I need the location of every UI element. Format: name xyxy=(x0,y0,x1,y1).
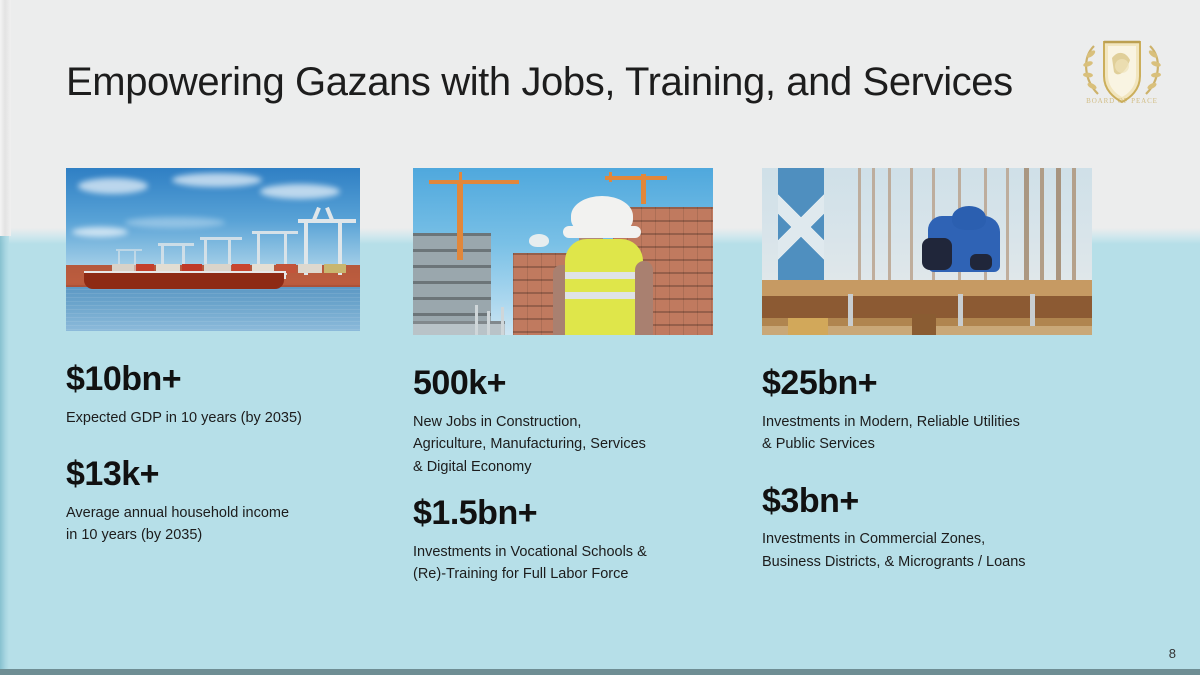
stat-block: $10bn+ Expected GDP in 10 years (by 2035… xyxy=(66,362,360,429)
stat-description-line: & Digital Economy xyxy=(413,456,713,478)
stat-value: 500k+ xyxy=(413,366,713,402)
stat-description-line: New Jobs in Construction, xyxy=(413,411,713,433)
stat-description-line: in 10 years (by 2035) xyxy=(66,524,360,546)
left-edge-highlight-top xyxy=(0,0,11,236)
board-of-peace-logo-icon xyxy=(1074,28,1170,126)
photo-construction-worker xyxy=(413,168,713,335)
stat-value: $25bn+ xyxy=(762,366,1092,402)
stat-description: Expected GDP in 10 years (by 2035) xyxy=(66,407,360,429)
stat-description-line: (Re)-Training for Full Labor Force xyxy=(413,563,713,585)
stat-block: 500k+ New Jobs in Construction, Agricult… xyxy=(413,366,713,478)
stat-block: $25bn+ Investments in Modern, Reliable U… xyxy=(762,366,1092,456)
stat-description-line: Business Districts, & Microgrants / Loan… xyxy=(762,551,1092,573)
page-title: Empowering Gazans with Jobs, Training, a… xyxy=(66,60,1066,105)
stat-description-line: & Public Services xyxy=(762,433,1092,455)
stat-value: $13k+ xyxy=(66,457,360,493)
stat-value: $1.5bn+ xyxy=(413,496,713,532)
stat-description-line: Expected GDP in 10 years (by 2035) xyxy=(66,407,360,429)
page-number: 8 xyxy=(1169,646,1176,661)
stat-description-line: Investments in Vocational Schools & xyxy=(413,541,713,563)
stat-description: Investments in Commercial Zones, Busines… xyxy=(762,528,1092,573)
stat-column-3: $25bn+ Investments in Modern, Reliable U… xyxy=(762,168,1092,573)
stat-description: Investments in Modern, Reliable Utilitie… xyxy=(762,411,1092,456)
stat-description: Investments in Vocational Schools & (Re)… xyxy=(413,541,713,586)
stat-block: $1.5bn+ Investments in Vocational School… xyxy=(413,496,713,586)
slide-canvas: Empowering Gazans with Jobs, Training, a… xyxy=(0,0,1200,675)
photo-formwork-worker xyxy=(762,168,1092,335)
stat-block: $3bn+ Investments in Commercial Zones, B… xyxy=(762,484,1092,574)
stat-value: $10bn+ xyxy=(66,362,360,398)
slide-bottom-bar xyxy=(0,669,1200,675)
stat-description-line: Investments in Modern, Reliable Utilitie… xyxy=(762,411,1092,433)
stat-description-line: Investments in Commercial Zones, xyxy=(762,528,1092,550)
stat-column-2: 500k+ New Jobs in Construction, Agricult… xyxy=(413,168,713,586)
stat-description: Average annual household income in 10 ye… xyxy=(66,502,360,547)
stat-description-line: Agriculture, Manufacturing, Services xyxy=(413,433,713,455)
stat-block: $13k+ Average annual household income in… xyxy=(66,457,360,547)
logo-caption: BOARD OF PEACE xyxy=(1070,97,1174,105)
stat-column-1: $10bn+ Expected GDP in 10 years (by 2035… xyxy=(66,168,360,547)
photo-container-port xyxy=(66,168,360,331)
stat-value: $3bn+ xyxy=(762,484,1092,520)
left-edge-highlight-bottom xyxy=(0,236,9,669)
stat-description-line: Average annual household income xyxy=(66,502,360,524)
stat-description: New Jobs in Construction, Agriculture, M… xyxy=(413,411,713,478)
